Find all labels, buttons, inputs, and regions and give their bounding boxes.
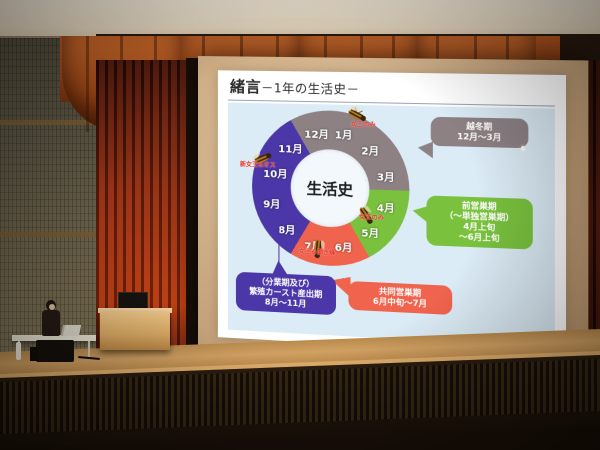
- slide-title-main: 緒言: [230, 77, 261, 96]
- bee-note-new-queens-and-males: 新女王&オス: [240, 159, 276, 169]
- callout-cooperative-nesting: 共同営巣期 6月中旬～7月: [348, 281, 452, 315]
- month-label: 12月: [304, 125, 329, 141]
- slide-title-sub: －1年の生活史－: [261, 81, 359, 97]
- equipment-case: [36, 340, 74, 362]
- slide-canvas: 生活史 1月2月3月4月5月6月7月8月9月10月11月12月: [228, 103, 555, 348]
- callout-line: 12月～3月: [437, 131, 522, 143]
- table-leg: [88, 341, 90, 357]
- bee-note-queen-only-jan: 女王のみ: [351, 119, 376, 129]
- donut-center-label: 生活史: [307, 177, 354, 200]
- slide-title-row: 緒言－1年の生活史－: [224, 74, 559, 106]
- seated-presenter: [41, 300, 61, 340]
- callout-line: ～6月上旬: [433, 231, 526, 245]
- callout-tail: [418, 141, 433, 158]
- month-label: 11月: [278, 140, 302, 156]
- bee-note-queen-only-may: 女王のみ: [359, 212, 384, 222]
- life-cycle-donut: 生活史 1月2月3月4月5月6月7月8月9月10月11月12月: [252, 109, 409, 269]
- callout-pre-nesting: 前営巣期 （～単独営巣期） 4月上旬 ～6月上旬: [426, 195, 532, 249]
- person-body: [42, 310, 60, 336]
- callout-tail: [413, 205, 429, 223]
- mouse-cursor-dot[interactable]: [521, 146, 525, 151]
- callout-tail: [272, 260, 287, 275]
- month-label: 3月: [377, 168, 395, 184]
- microphone-stand: [16, 342, 21, 360]
- lecture-hall-photo: 緒言－1年の生活史－ 生活史 1月2月3月4月5月6月7月8月9月10月11月1…: [0, 0, 600, 450]
- callout-division-of-labour: （分業期及び） 繁殖カースト産出期 8月～11月: [236, 272, 336, 315]
- bag: [30, 347, 38, 361]
- month-label: 6月: [335, 239, 353, 255]
- bee-note-queen-and-workers: 女王&働き蜂: [299, 246, 335, 257]
- laptop: [61, 325, 81, 336]
- month-label: 8月: [278, 221, 295, 237]
- presentation-slide: 緒言－1年の生活史－ 生活史 1月2月3月4月5月6月7月8月9月10月11月1…: [218, 70, 566, 357]
- podium: [100, 312, 170, 350]
- month-label: 5月: [361, 224, 379, 240]
- callout-overwintering: 越冬期 12月～3月: [431, 117, 529, 148]
- month-label: 9月: [263, 195, 280, 211]
- month-label: 2月: [361, 142, 379, 158]
